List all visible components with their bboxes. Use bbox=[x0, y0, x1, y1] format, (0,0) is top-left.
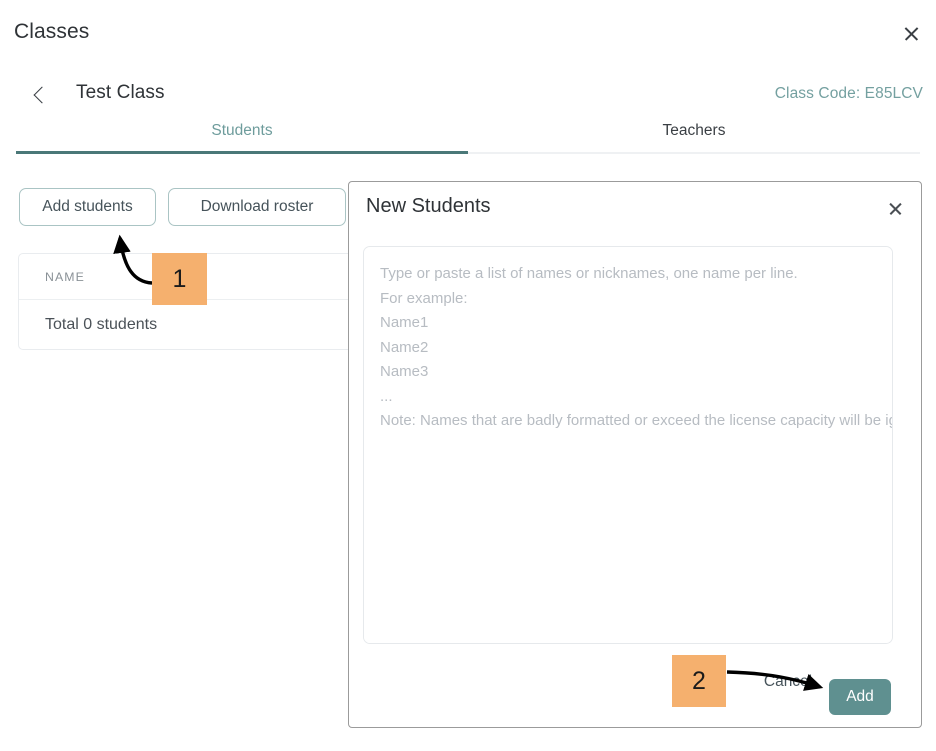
new-students-modal: New Students Cancel Add bbox=[348, 181, 922, 728]
annotation-badge-2: 2 bbox=[672, 655, 726, 707]
back-chevron-icon[interactable] bbox=[30, 84, 52, 108]
student-names-textarea[interactable] bbox=[363, 246, 893, 644]
cancel-button[interactable]: Cancel bbox=[755, 669, 821, 695]
tab-students[interactable]: Students bbox=[16, 122, 468, 150]
close-icon bbox=[903, 25, 920, 42]
class-name-label: Test Class bbox=[76, 82, 165, 104]
download-roster-button[interactable]: Download roster bbox=[168, 188, 346, 226]
add-students-button[interactable]: Add students bbox=[19, 188, 156, 226]
tab-teachers[interactable]: Teachers bbox=[468, 122, 920, 150]
class-code-label: Class Code: E85LCV bbox=[775, 85, 923, 103]
class-header: Test Class Class Code: E85LCV bbox=[0, 76, 936, 116]
annotation-badge-1: 1 bbox=[152, 253, 207, 305]
total-students-cell: Total 0 students bbox=[19, 316, 157, 334]
column-header-name: NAME bbox=[19, 270, 85, 284]
modal-title: New Students bbox=[366, 195, 491, 218]
close-icon bbox=[888, 201, 903, 216]
tab-underline-active bbox=[16, 151, 468, 154]
modal-close-button[interactable] bbox=[883, 196, 907, 220]
top-bar: Classes bbox=[0, 0, 936, 64]
close-panel-button[interactable] bbox=[898, 20, 924, 46]
modal-add-button[interactable]: Add bbox=[829, 679, 891, 715]
page-title: Classes bbox=[14, 20, 89, 44]
classes-screen: Classes Test Class Class Code: E85LCV St… bbox=[0, 0, 936, 751]
